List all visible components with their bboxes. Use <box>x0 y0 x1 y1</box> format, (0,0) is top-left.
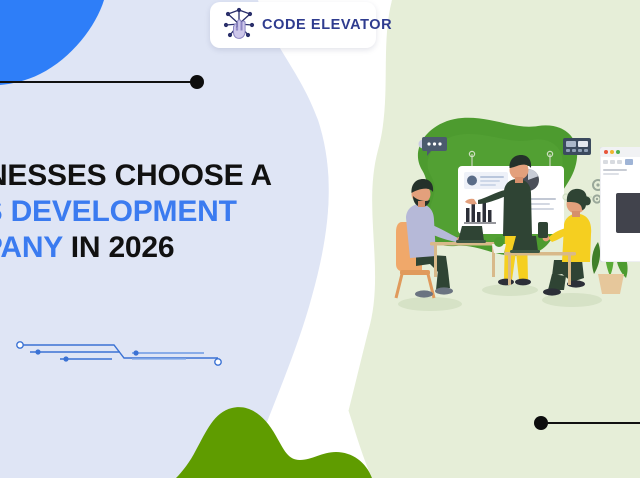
tablet-device <box>538 222 548 238</box>
circuit-dot-1 <box>35 349 40 354</box>
ground-shadow-presenter <box>482 284 538 296</box>
profile-card-line-2 <box>480 180 500 182</box>
bottom-connector-stroke <box>546 422 640 424</box>
chat-bubble-icon <box>418 134 448 158</box>
circuit-dot-3 <box>133 350 138 355</box>
ground-shadow-left <box>398 297 462 311</box>
headline-line-3-rest: IN 2026 <box>63 231 175 264</box>
bottom-connector-line <box>534 414 640 432</box>
profile-card-line-1 <box>480 176 504 178</box>
headline-line-1: SINESSES CHOOSE A <box>0 158 378 194</box>
page-headline: SINESSES CHOOSE A .JS DEVELOPMENT MPANY … <box>0 158 378 266</box>
brand-logo-badge[interactable]: CODE ELEVATOR <box>210 2 376 48</box>
plant-pot <box>598 274 624 294</box>
headline-line-3-accent: MPANY <box>0 231 63 264</box>
card-keyboard-icon <box>563 137 591 157</box>
profile-card-line-3 <box>480 184 496 186</box>
top-connector-dot <box>190 75 204 89</box>
brand-logo-text: CODE ELEVATOR <box>262 18 392 33</box>
poster-canvas: SINESSES CHOOSE A .JS DEVELOPMENT MPANY … <box>0 0 640 478</box>
browser-window-mockup <box>600 147 640 262</box>
circuit-trace-decoration <box>8 332 230 380</box>
headline-line-3: MPANY IN 2026 <box>0 230 378 266</box>
top-connector-stroke <box>0 81 192 83</box>
headline-line-2: .JS DEVELOPMENT <box>0 194 378 230</box>
top-connector-line <box>0 74 210 90</box>
circuit-dot-2 <box>63 356 68 361</box>
hand-cursor-icon <box>234 20 246 39</box>
traffic-light-green <box>616 150 620 154</box>
circuit-endpoint-right <box>215 359 221 365</box>
network-node-cursor-icon <box>220 6 258 44</box>
traffic-light-yellow <box>610 150 614 154</box>
circuit-endpoint-left <box>17 342 23 348</box>
traffic-light-red <box>604 150 608 154</box>
profile-avatar-icon <box>467 176 477 186</box>
